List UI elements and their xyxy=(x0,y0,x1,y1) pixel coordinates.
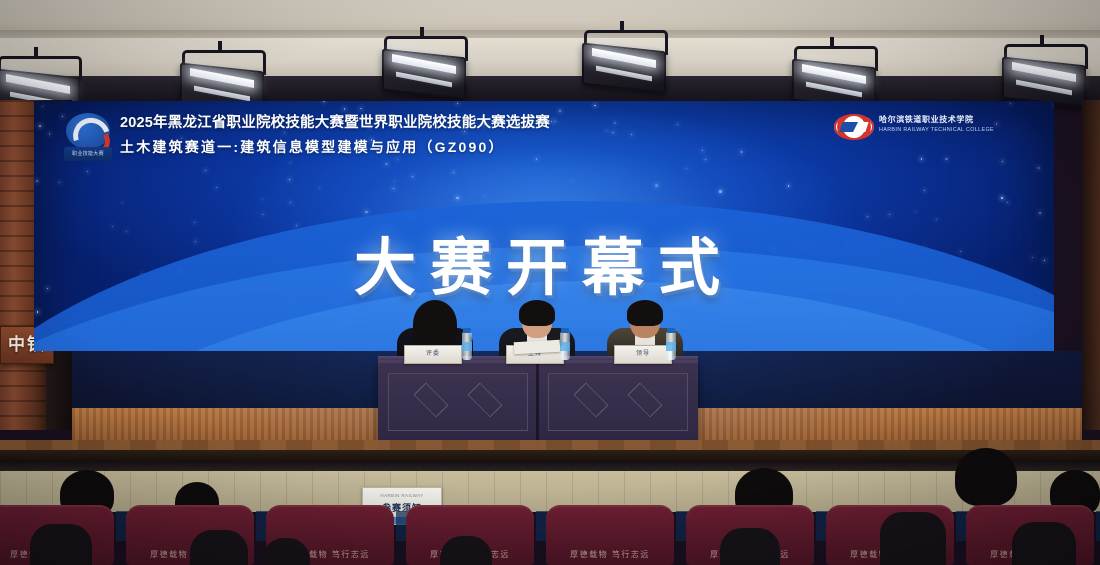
document-papers xyxy=(514,340,561,354)
chair-gap xyxy=(1096,511,1100,541)
ceremony-title: 大赛开幕式 xyxy=(34,233,1054,305)
front-row-audience-member xyxy=(1012,522,1076,565)
stage-spotlight xyxy=(790,46,876,102)
name-placard: 评委 xyxy=(404,345,462,364)
ceiling-band xyxy=(0,38,1100,78)
table-panel-right xyxy=(548,373,688,431)
stage-spotlight xyxy=(1000,44,1086,100)
chair-motto: 厚德载物 笃行志远 xyxy=(570,549,650,560)
college-logo-icon: 哈尔滨铁道职业技术学院 HARBIN RAILWAY TECHNICAL COL… xyxy=(834,113,982,145)
screen-header-line2: 土木建筑赛道一:建筑信息模型建模与应用（GZ090） xyxy=(120,135,550,159)
screen-header: 职业技能大赛 2025年黑龙江省职业院校技能大赛暨世界职业院校技能大赛选拔赛 土… xyxy=(50,109,1038,165)
right-wall xyxy=(1082,100,1100,430)
audience-member-head xyxy=(955,448,1017,506)
name-placard: 领导 xyxy=(614,345,672,364)
water-bottle xyxy=(666,332,676,360)
stage-spotlight xyxy=(178,50,264,106)
water-bottle xyxy=(560,332,570,360)
front-row-audience-member xyxy=(720,528,780,565)
apron-sign-top-text: HARBIN RAILWAY xyxy=(363,493,441,498)
screen-header-text: 2025年黑龙江省职业院校技能大赛暨世界职业院校技能大赛选拔赛 土木建筑赛道一:… xyxy=(120,111,550,159)
water-bottle xyxy=(462,332,472,360)
front-row-audience-member xyxy=(440,536,492,565)
stage-spotlight xyxy=(580,30,666,86)
front-row-audience-member xyxy=(190,530,248,565)
apron-shadow xyxy=(0,462,1100,471)
front-row-audience-member xyxy=(880,512,946,565)
lighting-truss xyxy=(0,76,1100,102)
stage-spotlight xyxy=(380,36,466,92)
college-name-cn: 哈尔滨铁道职业技术学院 xyxy=(879,114,974,125)
table-panel-left xyxy=(388,373,528,431)
competition-emblem-caption: 职业技能大赛 xyxy=(64,147,112,161)
college-name-en: HARBIN RAILWAY TECHNICAL COLLEGE xyxy=(879,127,994,133)
audience-chair: 厚德载物 笃行志远 xyxy=(546,505,674,565)
competition-emblem-icon: 职业技能大赛 xyxy=(64,113,112,163)
screen-header-line1: 2025年黑龙江省职业院校技能大赛暨世界职业院校技能大赛选拔赛 xyxy=(120,111,550,135)
photo-scene: 中铁 职业技能大赛 2025年黑龙江省职业院校技能大赛暨世界职业院校技能大赛选拔… xyxy=(0,0,1100,565)
front-row-audience-member xyxy=(30,524,92,565)
